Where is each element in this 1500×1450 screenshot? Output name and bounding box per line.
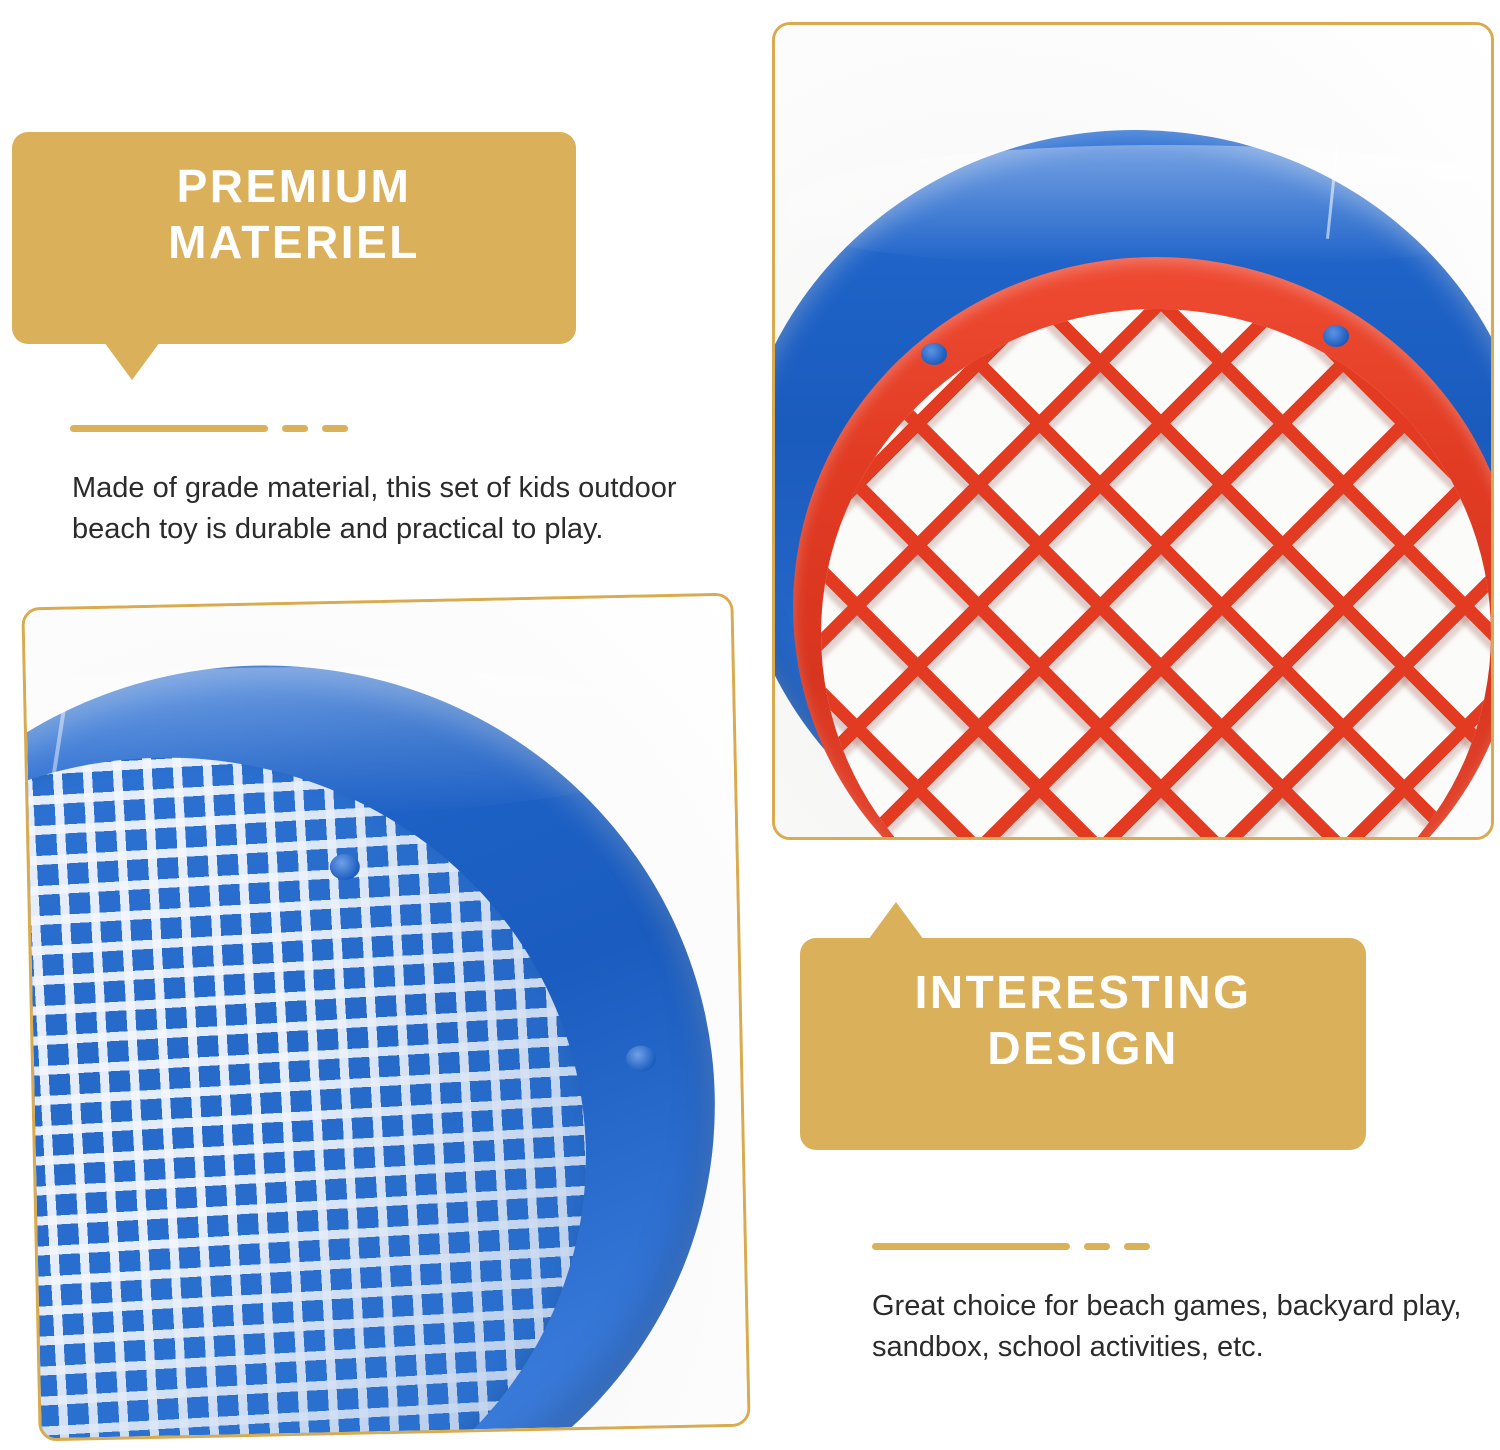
red-lattice-area — [821, 309, 1491, 837]
photo-sieve-blue-content — [24, 596, 747, 1439]
photo-sieve-red-content — [775, 25, 1491, 837]
dash-long — [70, 425, 268, 432]
callout-interesting-body: Great choice for beach games, backyard p… — [872, 1286, 1472, 1368]
photo-sieve-blue-mesh — [21, 593, 750, 1442]
dash-short — [1124, 1243, 1150, 1250]
dash-short — [322, 425, 348, 432]
rim-nub-left — [921, 343, 947, 365]
callout-interesting-title-line-1: INTERESTING — [834, 964, 1332, 1020]
callout-premium-pointer — [104, 342, 160, 380]
callout-premium-title-line-1: PREMIUM — [46, 158, 542, 214]
divider-dashes-premium — [70, 425, 348, 432]
product-infographic: PREMIUM MATERIEL Made of grade material,… — [0, 0, 1500, 1450]
blue-mesh-shading — [24, 749, 594, 1438]
callout-interesting-title-line-2: DESIGN — [834, 1020, 1332, 1076]
rim-nub-right — [1323, 325, 1349, 347]
dash-medium — [282, 425, 308, 432]
callout-premium-body: Made of grade material, this set of kids… — [72, 468, 732, 550]
red-lattice-grid — [821, 309, 1491, 837]
photo-sieve-red-mesh — [772, 22, 1494, 840]
callout-badge-interesting: INTERESTING DESIGN — [800, 938, 1366, 1150]
dash-long — [872, 1243, 1070, 1250]
dash-medium — [1084, 1243, 1110, 1250]
callout-interesting-pointer — [868, 902, 924, 940]
divider-dashes-interesting — [872, 1243, 1150, 1250]
callout-premium-title-line-2: MATERIEL — [46, 214, 542, 270]
blue-mesh-area — [24, 749, 594, 1438]
callout-badge-premium: PREMIUM MATERIEL — [12, 132, 576, 344]
